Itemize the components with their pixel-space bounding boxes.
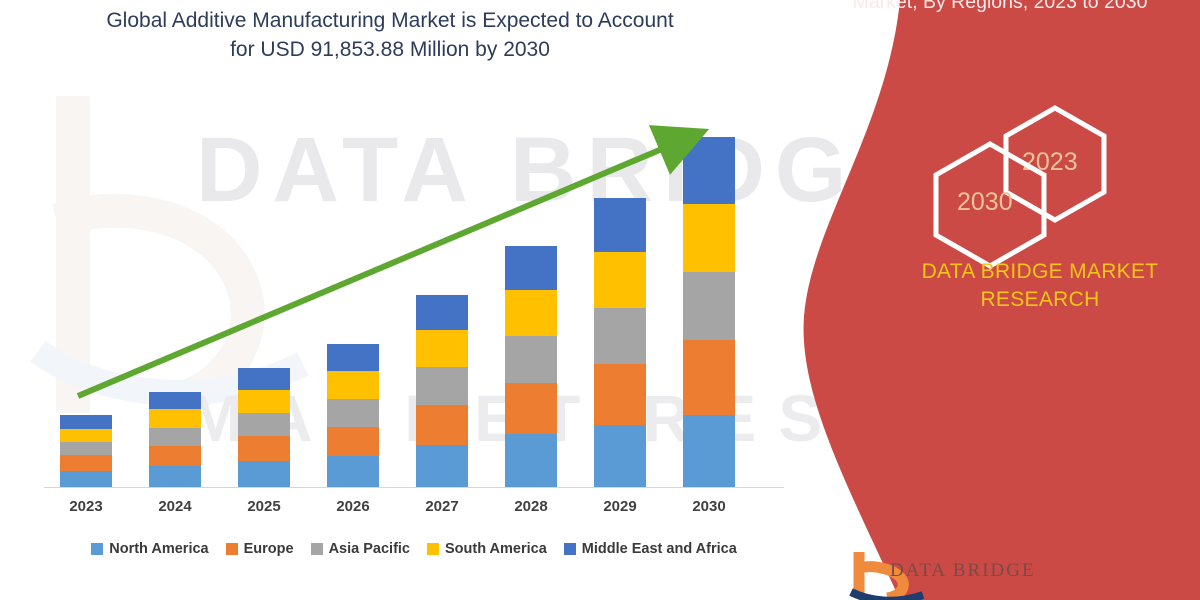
x-axis-label-2027: 2027 <box>402 498 482 515</box>
legend-label: South America <box>445 541 547 557</box>
bar-segment-europe[interactable] <box>594 364 646 424</box>
chart-legend: North AmericaEuropeAsia PacificSouth Ame… <box>44 541 784 557</box>
bar-segment-europe[interactable] <box>683 340 735 415</box>
bar-segment-asia-pacific[interactable] <box>238 413 290 436</box>
x-axis-label-2023: 2023 <box>46 498 126 515</box>
legend-swatch-icon <box>427 543 439 555</box>
bar-2028[interactable] <box>505 246 557 487</box>
bar-segment-middle-east-and-africa[interactable] <box>683 137 735 204</box>
bar-segment-south-america[interactable] <box>327 371 379 399</box>
x-axis-label-2024: 2024 <box>135 498 215 515</box>
legend-item-north-america[interactable]: North America <box>91 541 208 557</box>
bar-segment-north-america[interactable] <box>594 425 646 487</box>
bar-segment-europe[interactable] <box>60 455 112 470</box>
legend-item-asia-pacific[interactable]: Asia Pacific <box>311 541 410 557</box>
footer-logo-text: DATA BRIDGE <box>890 560 1036 582</box>
bar-segment-south-america[interactable] <box>594 252 646 308</box>
bar-segment-middle-east-and-africa[interactable] <box>505 246 557 290</box>
legend-swatch-icon <box>226 543 238 555</box>
bar-segment-europe[interactable] <box>327 427 379 457</box>
legend-swatch-icon <box>564 543 576 555</box>
bar-segment-north-america[interactable] <box>683 415 735 487</box>
bar-segment-north-america[interactable] <box>505 434 557 487</box>
hexagon-2030-label: 2030 <box>957 188 1013 217</box>
bar-segment-north-america[interactable] <box>327 456 379 487</box>
bar-segment-south-america[interactable] <box>60 429 112 442</box>
bar-segment-north-america[interactable] <box>60 471 112 487</box>
bar-2027[interactable] <box>416 295 468 487</box>
axis-baseline <box>44 487 784 488</box>
legend-label: Middle East and Africa <box>582 541 737 557</box>
bar-2029[interactable] <box>594 198 646 487</box>
bar-segment-north-america[interactable] <box>149 466 201 487</box>
bar-segment-asia-pacific[interactable] <box>505 336 557 383</box>
x-axis-label-2026: 2026 <box>313 498 393 515</box>
plot-area: 20232024202520262027202820292030 <box>0 0 800 600</box>
brand-line-1: DATA BRIDGE MARKET <box>922 260 1159 283</box>
bar-segment-asia-pacific[interactable] <box>327 399 379 427</box>
bar-segment-middle-east-and-africa[interactable] <box>149 392 201 409</box>
infographic-root: DATA BRIDGE MARKET RESEARCH Global Addit… <box>0 0 1200 600</box>
bar-segment-europe[interactable] <box>238 436 290 461</box>
bar-segment-south-america[interactable] <box>505 290 557 336</box>
bar-segment-asia-pacific[interactable] <box>60 442 112 455</box>
right-panel-heading: Market, By Regions, 2023 to 2030 <box>800 0 1200 16</box>
x-axis-label-2028: 2028 <box>491 498 571 515</box>
bar-segment-middle-east-and-africa[interactable] <box>238 368 290 390</box>
bar-segment-europe[interactable] <box>149 446 201 466</box>
bar-2025[interactable] <box>238 368 290 487</box>
x-axis-label-2029: 2029 <box>580 498 660 515</box>
bar-2026[interactable] <box>327 344 379 487</box>
bar-segment-europe[interactable] <box>505 383 557 434</box>
x-axis-label-2025: 2025 <box>224 498 304 515</box>
legend-swatch-icon <box>311 543 323 555</box>
bar-segment-asia-pacific[interactable] <box>149 428 201 446</box>
bar-segment-asia-pacific[interactable] <box>416 367 468 404</box>
legend-label: North America <box>109 541 208 557</box>
bar-2024[interactable] <box>149 392 201 487</box>
bar-segment-south-america[interactable] <box>238 390 290 413</box>
bar-segment-europe[interactable] <box>416 405 468 445</box>
bar-segment-middle-east-and-africa[interactable] <box>327 344 379 371</box>
brand-name: DATA BRIDGE MARKET RESEARCH <box>880 258 1200 314</box>
bar-segment-middle-east-and-africa[interactable] <box>60 415 112 428</box>
bar-segment-south-america[interactable] <box>683 204 735 272</box>
chart-panel: DATA BRIDGE MARKET RESEARCH Global Addit… <box>0 0 900 600</box>
legend-item-europe[interactable]: Europe <box>226 541 294 557</box>
legend-swatch-icon <box>91 543 103 555</box>
bar-segment-asia-pacific[interactable] <box>683 272 735 340</box>
bar-segment-south-america[interactable] <box>149 409 201 427</box>
bar-2030[interactable] <box>683 137 735 487</box>
legend-label: Europe <box>244 541 294 557</box>
bar-2023[interactable] <box>60 415 112 487</box>
bar-segment-south-america[interactable] <box>416 330 468 367</box>
brand-line-2: RESEARCH <box>980 288 1099 311</box>
bar-segment-middle-east-and-africa[interactable] <box>594 198 646 252</box>
x-axis-label-2030: 2030 <box>669 498 749 515</box>
bar-segment-north-america[interactable] <box>238 461 290 487</box>
bar-segment-middle-east-and-africa[interactable] <box>416 295 468 330</box>
legend-label: Asia Pacific <box>329 541 410 557</box>
bar-segment-north-america[interactable] <box>416 445 468 487</box>
legend-item-middle-east-and-africa[interactable]: Middle East and Africa <box>564 541 737 557</box>
legend-item-south-america[interactable]: South America <box>427 541 547 557</box>
bar-segment-asia-pacific[interactable] <box>594 308 646 365</box>
